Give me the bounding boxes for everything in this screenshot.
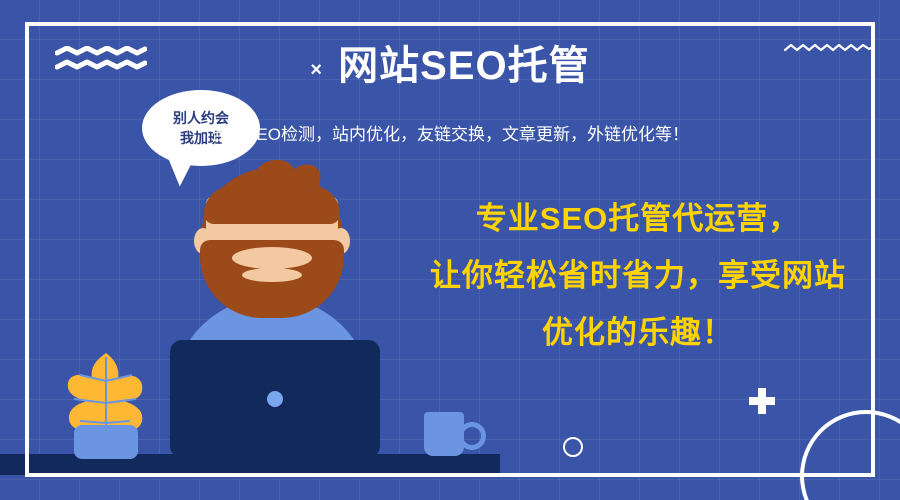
seo-hosting-banner: 别人约会 我加班 × 网站SEO托管 含：SEO检测，站内优化，友链交换，文章更… [0,0,900,500]
potted-plant-icon [58,345,154,457]
plant-pot [74,425,138,459]
title-bullet-icon: × [310,60,322,80]
laptop-icon [170,340,380,458]
headline-line-1: 专业SEO托管代运营， [388,190,888,247]
beard-mustache-gap [232,247,312,269]
title-row: × 网站SEO托管 [0,44,900,88]
plus-icon [749,388,775,414]
headline-block: 专业SEO托管代运营， 让你轻松省时省力，享受网站 优化的乐趣！ [388,190,888,361]
headline-line-3: 优化的乐趣！ [388,304,888,361]
mouth [242,268,302,282]
mug-body [424,412,464,456]
page-title: 网站SEO托管 [338,44,589,88]
subtitle: 含：SEO检测，站内优化，友链交换，文章更新，外链优化等！ [0,120,900,145]
coffee-mug-icon [424,412,480,456]
headline-line-2: 让你轻松省时省力，享受网站 [388,247,888,304]
circle-outline-small-icon [563,437,583,457]
hair-fringe [204,186,340,224]
circle-outline-large-icon [800,410,900,500]
laptop-logo-icon [267,391,283,407]
